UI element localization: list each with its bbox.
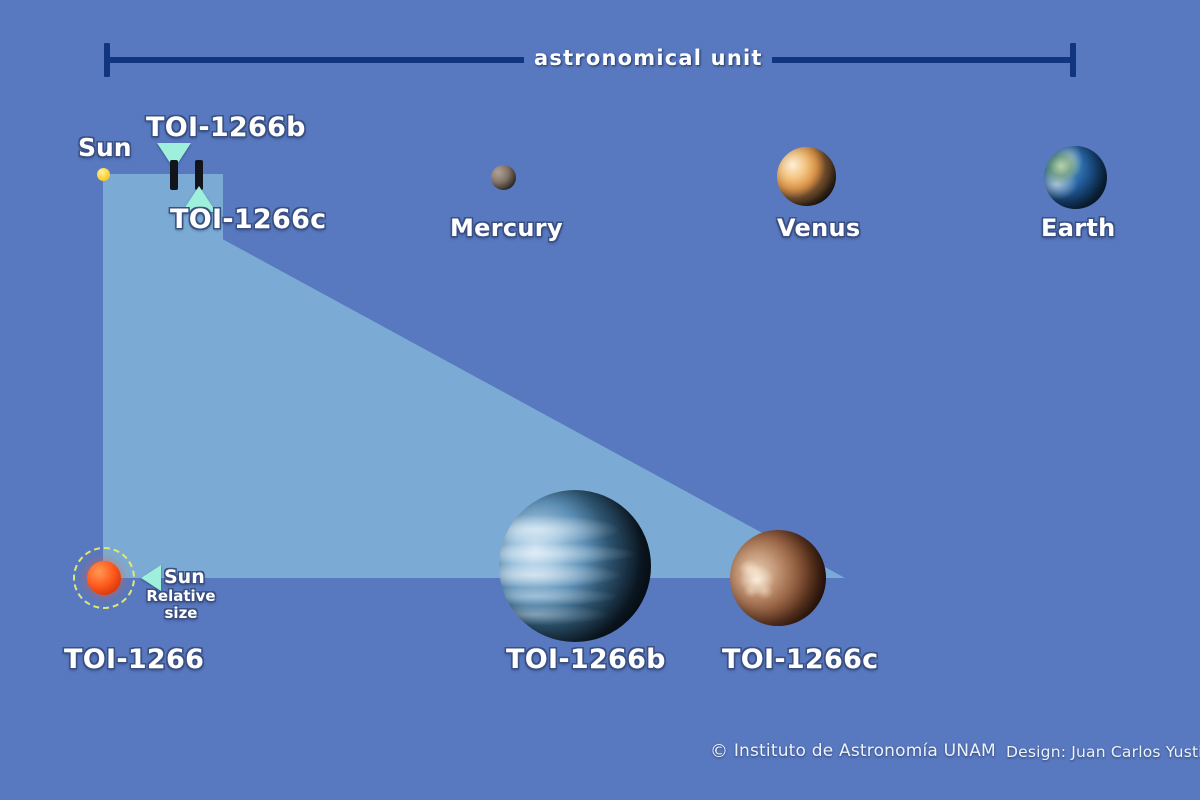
sun-relative-size-line3: size	[165, 604, 198, 622]
scale-bar-label: astronomical unit	[534, 46, 763, 70]
venus-label: Venus	[777, 214, 861, 242]
earth-label: Earth	[1041, 214, 1115, 242]
toi-1266c-planet-icon	[730, 530, 826, 626]
orbit-tick-b	[170, 160, 178, 190]
sun-relative-size-sub: Relative size	[141, 588, 221, 622]
scale-bar-right-cap	[1070, 43, 1076, 77]
credit-institution: © Instituto de Astronomía UNAM	[710, 741, 996, 762]
mercury-planet-icon	[491, 165, 516, 190]
toi-1266-star-label: TOI-1266	[64, 644, 204, 675]
scale-bar-right-line	[772, 57, 1074, 63]
sun-relative-size-title: Sun	[164, 566, 205, 588]
sun-relative-size-line2: Relative	[146, 587, 215, 605]
sun-label: Sun	[78, 133, 132, 162]
toi-1266b-label: TOI-1266b	[506, 644, 666, 675]
earth-planet-icon	[1044, 146, 1107, 209]
toi-1266c-label: TOI-1266c	[722, 644, 878, 675]
infographic-canvas: astronomical unit Sun TOI-1266b TOI-1266…	[0, 0, 1200, 800]
sun-dot	[97, 168, 110, 181]
copyright-icon: ©	[710, 741, 728, 762]
scale-bar-left-line	[106, 57, 524, 63]
venus-planet-icon	[777, 147, 836, 206]
toi-1266-star-icon	[87, 561, 121, 595]
credit-design: Design: Juan Carlos Yustis	[1006, 743, 1200, 761]
credit-institution-text: Instituto de Astronomía UNAM	[734, 741, 996, 761]
toi-1266c-orbit-label: TOI-1266c	[170, 204, 326, 235]
toi-1266b-orbit-label: TOI-1266b	[146, 112, 306, 143]
toi-1266b-planet-icon	[499, 490, 651, 642]
mercury-label: Mercury	[450, 214, 563, 242]
